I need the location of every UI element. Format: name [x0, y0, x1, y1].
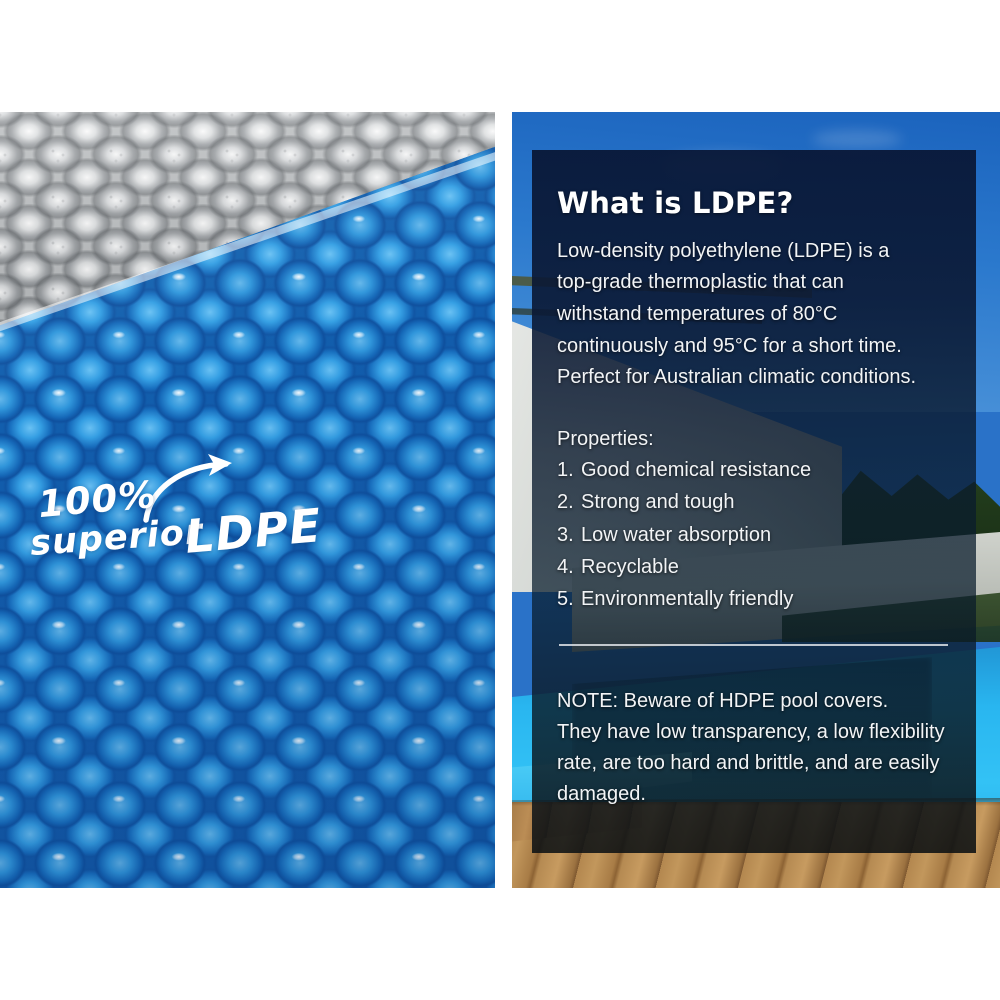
- intro-paragraph: Low-density polyethylene (LDPE) is a top…: [557, 236, 950, 394]
- note-line-1: NOTE: Beware of HDPE pool covers.: [557, 686, 950, 717]
- list-item-label: Good chemical resistance: [581, 454, 811, 486]
- list-item-number: 1.: [557, 454, 579, 486]
- list-item-number: 2.: [557, 486, 579, 518]
- note-paragraph: NOTE: Beware of HDPE pool covers. They h…: [557, 686, 950, 811]
- note-line-3: rate, are too hard and brittle, and are …: [557, 748, 950, 779]
- note-line-4: damaged.: [557, 779, 950, 810]
- properties-label: Properties:: [557, 424, 950, 454]
- list-item: 2. Strong and tough: [557, 486, 950, 518]
- properties-list: 1. Good chemical resistance 2. Strong an…: [557, 454, 950, 616]
- list-item-number: 3.: [557, 519, 579, 551]
- list-item-label: Strong and tough: [581, 486, 734, 518]
- cloud-shape-b: [812, 130, 902, 148]
- list-item-number: 5.: [557, 583, 579, 615]
- left-product-photo-panel: 100% superior LDPE: [0, 112, 495, 888]
- list-item: 1. Good chemical resistance: [557, 454, 950, 486]
- intro-line-3: withstand temperatures of 80°C: [557, 299, 950, 331]
- intro-line-5: Perfect for Australian climatic conditio…: [557, 362, 950, 394]
- list-item-label: Low water absorption: [581, 519, 771, 551]
- intro-line-1: Low-density polyethylene (LDPE) is a: [557, 236, 950, 268]
- section-divider: [559, 644, 948, 646]
- list-item-number: 4.: [557, 551, 579, 583]
- list-item: 4. Recyclable: [557, 551, 950, 583]
- card-heading: What is LDPE?: [557, 188, 950, 220]
- intro-line-4: continuously and 95°C for a short time.: [557, 331, 950, 363]
- list-item: 5. Environmentally friendly: [557, 583, 950, 615]
- right-info-panel: What is LDPE? Low-density polyethylene (…: [512, 112, 1000, 888]
- intro-line-2: top-grade thermoplastic that can: [557, 267, 950, 299]
- list-item: 3. Low water absorption: [557, 519, 950, 551]
- list-item-label: Environmentally friendly: [581, 583, 793, 615]
- list-item-label: Recyclable: [581, 551, 679, 583]
- infographic-root: 100% superior LDPE What is LDPE? Low-den…: [0, 0, 1000, 1000]
- note-line-2: They have low transparency, a low flexib…: [557, 717, 950, 748]
- info-card-overlay: What is LDPE? Low-density polyethylene (…: [532, 150, 976, 853]
